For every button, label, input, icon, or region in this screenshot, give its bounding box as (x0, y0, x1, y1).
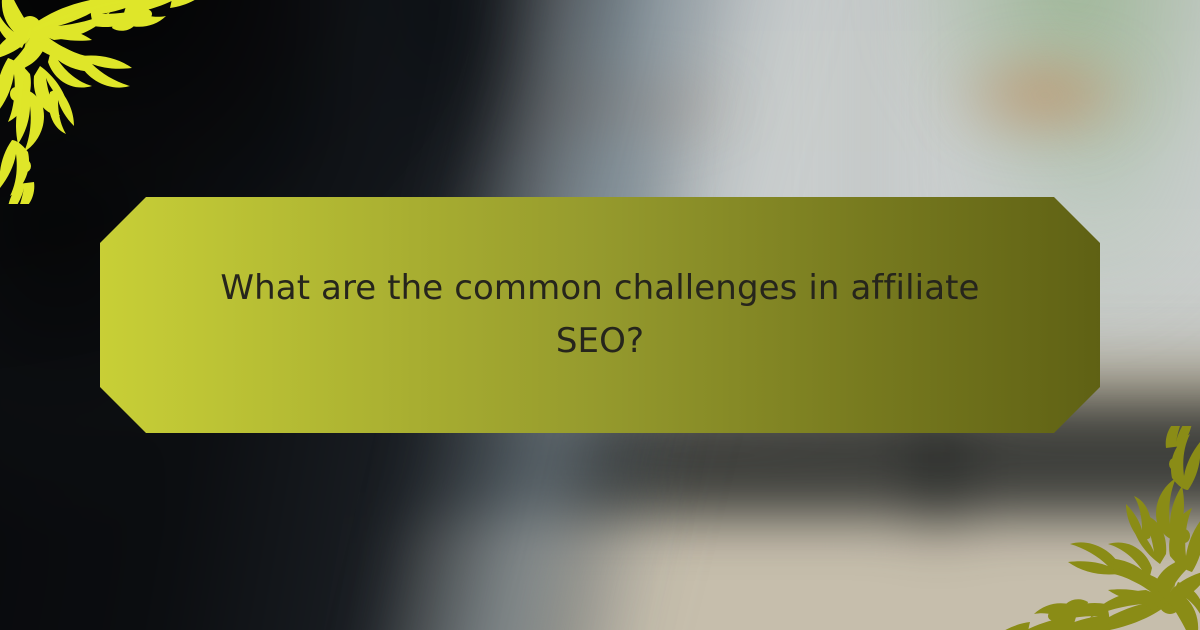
card-canvas: What are the common challenges in affili… (0, 0, 1200, 630)
question-banner: What are the common challenges in affili… (100, 197, 1100, 433)
page-title: What are the common challenges in affili… (220, 262, 980, 367)
